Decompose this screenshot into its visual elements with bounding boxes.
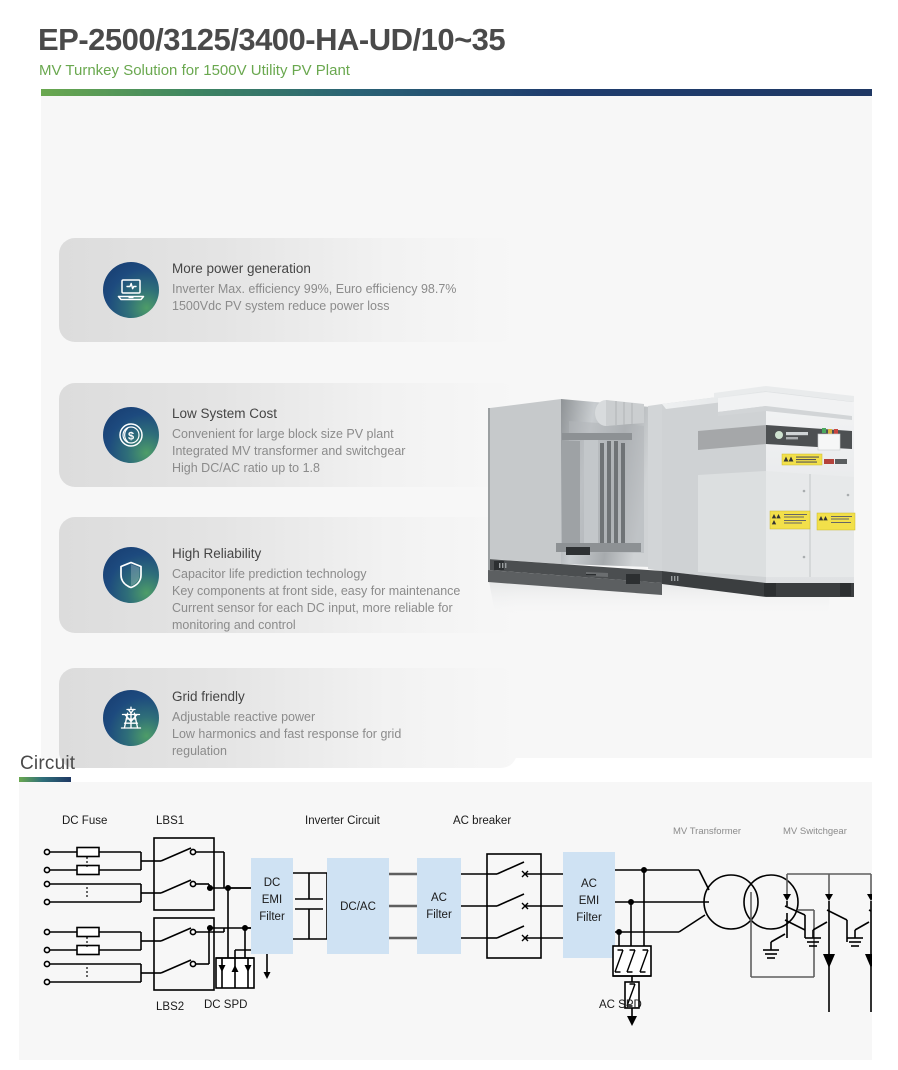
ac-emi-filter-label-3: Filter — [576, 912, 602, 924]
ac-filter-block — [417, 858, 461, 954]
label-ac-breaker: AC breaker — [453, 815, 511, 827]
transmission-tower-icon — [103, 690, 159, 746]
dollar-coin-icon: $ — [103, 407, 159, 463]
label-dc-fuse: DC Fuse — [62, 815, 107, 827]
shield-icon — [103, 547, 159, 603]
page-title: EP-2500/3125/3400-HA-UD/10~35 — [38, 22, 505, 58]
dc-emi-filter-label-3: Filter — [259, 911, 285, 923]
label-inverter-circuit: Inverter Circuit — [305, 815, 381, 827]
svg-text:$: $ — [128, 430, 134, 442]
label-dc-spd: DC SPD — [204, 999, 247, 1011]
feature-line: Adjustable reactive power — [172, 709, 401, 726]
dc-emi-filter-label-2: EMI — [262, 894, 282, 906]
feature-card-low-system-cost: $ Low System Cost Convenient for large b… — [59, 383, 517, 487]
feature-line: Inverter Max. efficiency 99%, Euro effic… — [172, 281, 456, 298]
feature-line: High DC/AC ratio up to 1.8 — [172, 460, 405, 477]
ac-emi-filter-label-1: AC — [581, 878, 597, 890]
label-mv-transformer: MV Transformer — [673, 826, 741, 837]
header-gradient-rule — [41, 89, 872, 96]
feature-card-grid-friendly: Grid friendly Adjustable reactive power … — [59, 668, 517, 768]
feature-card-4-text: Grid friendly Adjustable reactive power … — [172, 688, 401, 760]
circuit-diagram-panel: DC EMI Filter DC/AC — [19, 782, 872, 1060]
feature-card-2-text: Low System Cost Convenient for large blo… — [172, 405, 405, 477]
feature-title: More power generation — [172, 260, 456, 277]
feature-line: Convenient for large block size PV plant — [172, 426, 405, 443]
label-ac-spd: AC SPD — [599, 999, 642, 1011]
feature-card-3-text: High Reliability Capacitor life predicti… — [172, 545, 460, 634]
dc-emi-filter-label-1: DC — [264, 877, 281, 889]
feature-card-high-reliability: High Reliability Capacitor life predicti… — [59, 517, 517, 633]
page-subtitle: MV Turnkey Solution for 1500V Utility PV… — [39, 62, 350, 79]
laptop-power-icon — [103, 262, 159, 318]
feature-line: Capacitor life prediction technology — [172, 566, 460, 583]
dc-emi-filter-block — [251, 858, 293, 954]
label-mv-switchgear: MV Switchgear — [783, 826, 847, 837]
features-panel: More power generation Inverter Max. effi… — [41, 96, 872, 758]
product-image — [466, 371, 891, 626]
feature-card-more-power-generation: More power generation Inverter Max. effi… — [59, 238, 517, 342]
label-lbs1: LBS1 — [156, 815, 184, 827]
feature-title: Grid friendly — [172, 688, 401, 705]
feature-line: monitoring and control — [172, 617, 460, 634]
circuit-diagram: DC EMI Filter DC/AC — [19, 782, 872, 1060]
feature-line: regulation — [172, 743, 401, 760]
feature-title: Low System Cost — [172, 405, 405, 422]
feature-line: Low harmonics and fast response for grid — [172, 726, 401, 743]
label-lbs2: LBS2 — [156, 1001, 184, 1013]
dcac-label: DC/AC — [340, 901, 376, 913]
ac-emi-filter-label-2: EMI — [579, 895, 599, 907]
feature-line: Key components at front side, easy for m… — [172, 583, 460, 600]
feature-title: High Reliability — [172, 545, 460, 562]
feature-card-1-text: More power generation Inverter Max. effi… — [172, 260, 456, 315]
feature-line: 1500Vdc PV system reduce power loss — [172, 298, 456, 315]
feature-line: Integrated MV transformer and switchgear — [172, 443, 405, 460]
section-title-circuit: Circuit — [20, 753, 75, 775]
ac-filter-label-2: Filter — [426, 909, 452, 921]
product-datasheet-page: EP-2500/3125/3400-HA-UD/10~35 MV Turnkey… — [0, 0, 898, 1070]
ac-filter-label-1: AC — [431, 892, 447, 904]
feature-line: Current sensor for each DC input, more r… — [172, 600, 460, 617]
